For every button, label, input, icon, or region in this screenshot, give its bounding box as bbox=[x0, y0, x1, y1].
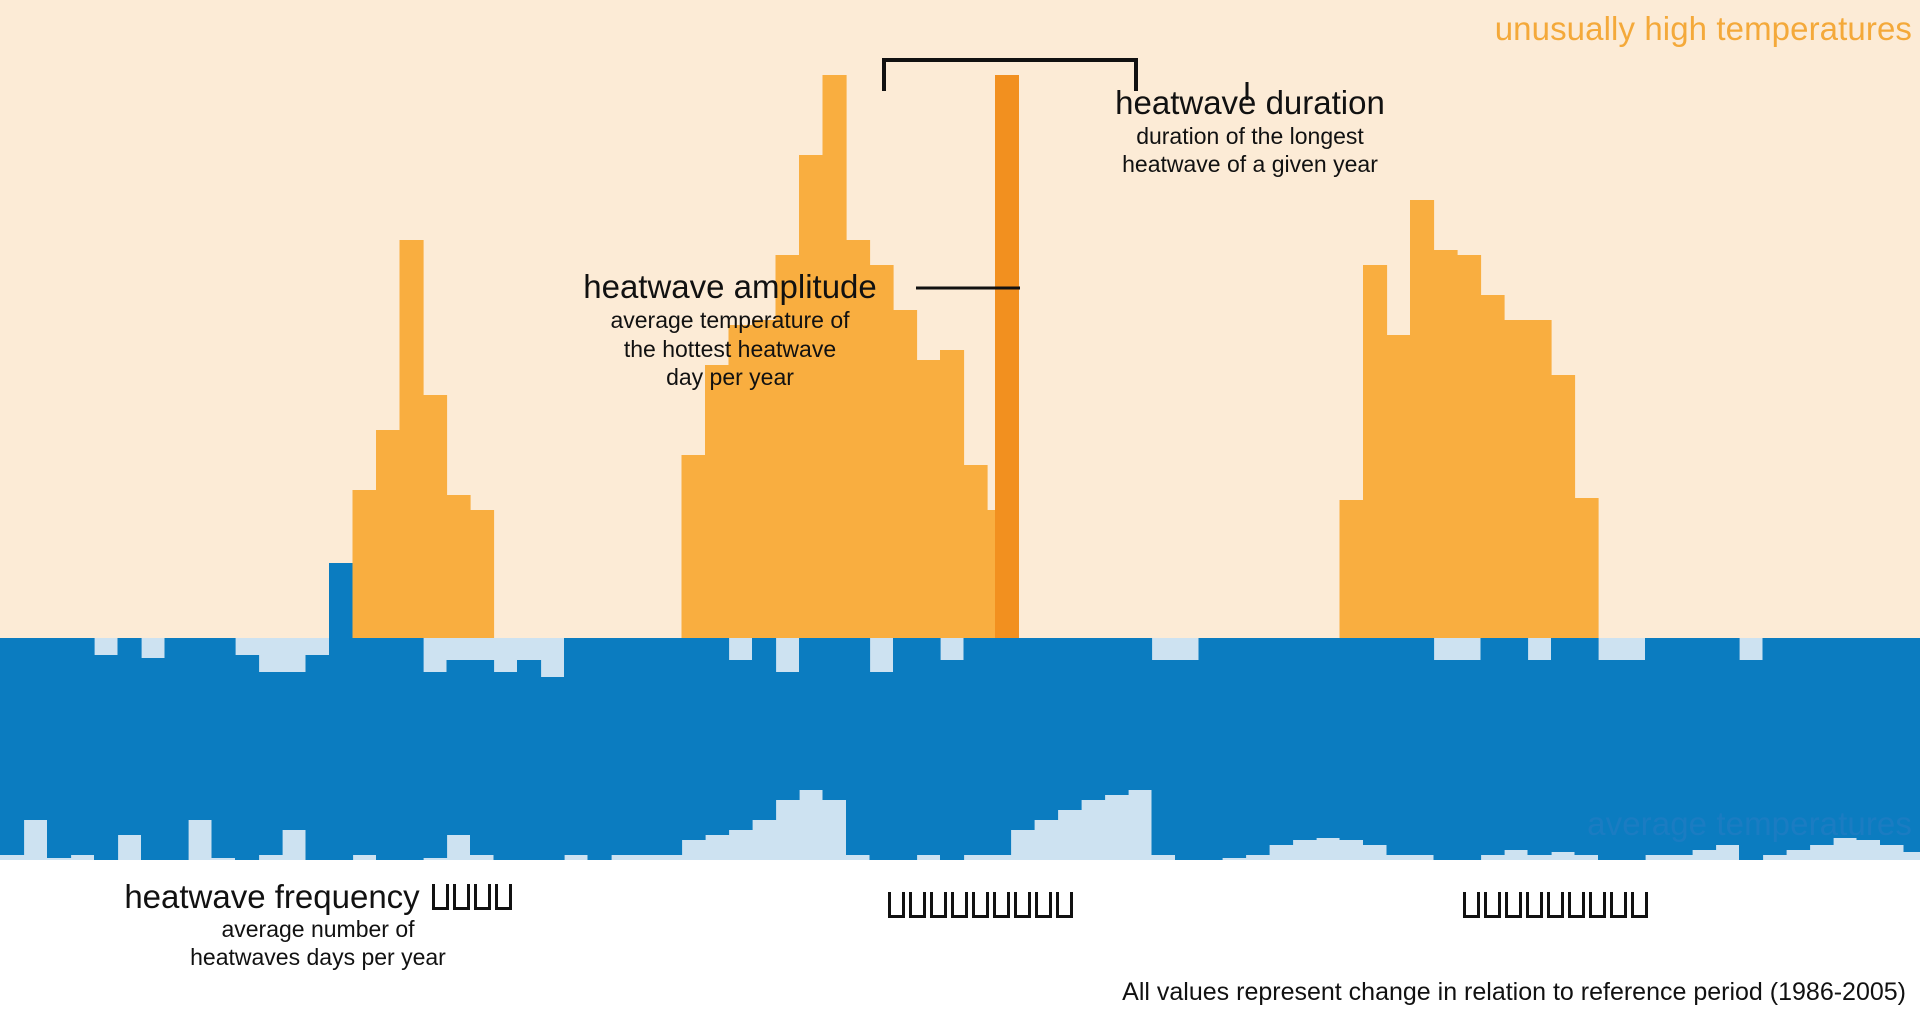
tick-mark-u bbox=[474, 884, 491, 910]
label-unusually-high-temperatures: unusually high temperatures bbox=[1495, 10, 1912, 48]
tick-mark-u bbox=[1014, 892, 1031, 918]
bar-blue bbox=[870, 672, 894, 860]
amplitude-sub-line3: day per year bbox=[520, 364, 940, 391]
bar-blue bbox=[447, 660, 471, 835]
bar-blue bbox=[1551, 638, 1575, 852]
bar-blue bbox=[752, 638, 776, 820]
bar-blue bbox=[987, 638, 1011, 855]
bar-blue bbox=[1011, 638, 1035, 830]
bar-orange bbox=[917, 360, 941, 638]
bar-blue bbox=[212, 638, 236, 858]
tick-mark-u bbox=[1547, 892, 1564, 918]
bar-orange bbox=[423, 395, 447, 638]
bar-blue bbox=[400, 638, 424, 860]
tick-mark-u bbox=[1035, 892, 1052, 918]
bar-blue bbox=[1293, 638, 1317, 840]
tick-mark-u bbox=[888, 892, 905, 918]
bar-blue bbox=[682, 638, 706, 840]
bar-orange bbox=[1528, 320, 1552, 638]
bar-blue bbox=[235, 655, 259, 860]
bar-blue bbox=[165, 638, 189, 860]
bar-blue bbox=[1504, 638, 1528, 850]
bar-blue bbox=[118, 638, 142, 835]
frequency-sub-line1: average number of bbox=[58, 916, 578, 943]
bar-orange bbox=[470, 510, 494, 638]
bar-blue bbox=[1175, 660, 1199, 860]
annotation-heatwave-frequency: heatwave frequency average number of hea… bbox=[58, 880, 578, 971]
bar-blue bbox=[353, 638, 377, 855]
bar-blue bbox=[47, 638, 71, 858]
bar-blue bbox=[259, 672, 283, 855]
bar-orange bbox=[705, 365, 729, 638]
bar-blue bbox=[846, 638, 870, 855]
label-average-temperatures: average temperatures bbox=[1587, 805, 1912, 843]
bar-blue bbox=[1058, 638, 1082, 810]
bar-blue bbox=[1081, 638, 1105, 800]
bar-blue bbox=[1340, 638, 1364, 840]
tick-mark-u bbox=[1484, 892, 1501, 918]
duration-title: heatwave duration bbox=[1040, 86, 1460, 121]
bar-orange bbox=[447, 495, 471, 638]
bar-blue bbox=[71, 638, 95, 855]
tick-group-left bbox=[432, 884, 512, 910]
bar-orange bbox=[1575, 498, 1599, 638]
bar-blue bbox=[658, 638, 682, 855]
bar-blue bbox=[282, 672, 306, 830]
bar-blue bbox=[1128, 638, 1152, 790]
bar-blue bbox=[1105, 638, 1129, 795]
bar-blue bbox=[1410, 638, 1434, 855]
bar-blue bbox=[823, 638, 847, 800]
bar-blue bbox=[799, 628, 823, 790]
bar-blue bbox=[188, 638, 212, 820]
bar-blue bbox=[1434, 660, 1458, 860]
annotation-heatwave-amplitude: heatwave amplitude average temperature o… bbox=[520, 270, 940, 391]
bar-orange bbox=[400, 240, 424, 638]
tick-mark-u bbox=[972, 892, 989, 918]
bar-blue bbox=[1222, 638, 1246, 858]
bar-blue bbox=[1152, 660, 1176, 855]
amplitude-title: heatwave amplitude bbox=[520, 270, 940, 305]
bar-blue bbox=[964, 638, 988, 855]
bar-blue bbox=[329, 563, 353, 860]
bar-blue bbox=[94, 655, 118, 860]
bar-orange bbox=[1363, 265, 1387, 638]
bar-blue bbox=[729, 660, 753, 830]
tick-mark-u bbox=[1610, 892, 1627, 918]
peak-amplitude-bar bbox=[995, 75, 1019, 638]
bar-orange bbox=[1434, 250, 1458, 638]
bar-orange bbox=[964, 465, 988, 638]
annotation-heatwave-duration: heatwave duration duration of the longes… bbox=[1040, 86, 1460, 178]
bar-blue bbox=[1457, 660, 1481, 860]
bar-orange bbox=[1387, 335, 1411, 638]
tick-mark-u bbox=[951, 892, 968, 918]
bar-blue bbox=[611, 638, 635, 855]
amplitude-sub-line2: the hottest heatwave bbox=[520, 336, 940, 363]
bar-blue bbox=[917, 638, 941, 855]
bar-blue bbox=[541, 677, 565, 860]
bar-blue bbox=[1034, 638, 1058, 820]
tick-mark-u bbox=[453, 884, 470, 910]
tick-mark-u bbox=[1589, 892, 1606, 918]
bar-blue bbox=[635, 638, 659, 855]
footnote-reference-period: All values represent change in relation … bbox=[1122, 978, 1906, 1007]
bar-blue bbox=[376, 638, 400, 860]
bar-blue bbox=[564, 638, 588, 855]
tick-mark-u bbox=[432, 884, 449, 910]
bar-blue bbox=[776, 672, 800, 800]
tick-mark-u bbox=[1568, 892, 1585, 918]
bar-blue bbox=[588, 638, 612, 860]
tick-mark-u bbox=[1526, 892, 1543, 918]
bar-blue bbox=[470, 660, 494, 855]
bar-blue bbox=[24, 638, 48, 820]
bar-orange bbox=[376, 430, 400, 638]
bar-blue bbox=[1363, 638, 1387, 845]
bar-blue bbox=[306, 655, 330, 860]
bar-blue bbox=[1528, 660, 1552, 855]
bar-blue bbox=[1387, 638, 1411, 855]
bar-blue bbox=[1269, 638, 1293, 845]
bar-blue bbox=[0, 638, 24, 855]
bar-blue bbox=[940, 660, 964, 860]
tick-mark-u bbox=[993, 892, 1010, 918]
tick-mark-u bbox=[909, 892, 926, 918]
bar-orange bbox=[1410, 200, 1434, 638]
tick-group-middle bbox=[888, 892, 1073, 918]
tick-group-right bbox=[1463, 892, 1648, 918]
bar-blue bbox=[1316, 638, 1340, 838]
bar-blue bbox=[705, 638, 729, 835]
frequency-sub-line2: heatwaves days per year bbox=[58, 944, 578, 971]
bar-blue bbox=[1199, 638, 1223, 860]
bar-orange bbox=[1340, 500, 1364, 638]
bar-blue bbox=[893, 638, 917, 860]
bar-blue bbox=[423, 672, 447, 858]
amplitude-sub-line1: average temperature of bbox=[520, 307, 940, 334]
bar-blue bbox=[494, 672, 518, 860]
bar-orange bbox=[1457, 255, 1481, 638]
duration-sub-line1: duration of the longest bbox=[1040, 123, 1460, 149]
bar-blue bbox=[141, 658, 165, 860]
bar-orange bbox=[353, 490, 377, 638]
tick-mark-u bbox=[1056, 892, 1073, 918]
bar-orange bbox=[1481, 295, 1505, 638]
bar-blue bbox=[517, 660, 541, 860]
bar-orange bbox=[799, 155, 823, 638]
frequency-title: heatwave frequency bbox=[124, 880, 419, 915]
tick-mark-u bbox=[495, 884, 512, 910]
tick-mark-u bbox=[1505, 892, 1522, 918]
tick-mark-u bbox=[930, 892, 947, 918]
bar-orange bbox=[682, 455, 706, 638]
infographic-canvas: unusually high temperatures average temp… bbox=[0, 0, 1920, 1019]
bar-orange bbox=[1504, 320, 1528, 638]
bar-blue bbox=[1246, 638, 1270, 855]
bar-blue bbox=[1481, 638, 1505, 855]
duration-sub-line2: heatwave of a given year bbox=[1040, 151, 1460, 177]
tick-mark-u bbox=[1631, 892, 1648, 918]
bar-orange bbox=[1551, 375, 1575, 638]
bar-orange bbox=[940, 350, 964, 638]
heatwave-bar-chart bbox=[0, 0, 1920, 860]
tick-mark-u bbox=[1463, 892, 1480, 918]
